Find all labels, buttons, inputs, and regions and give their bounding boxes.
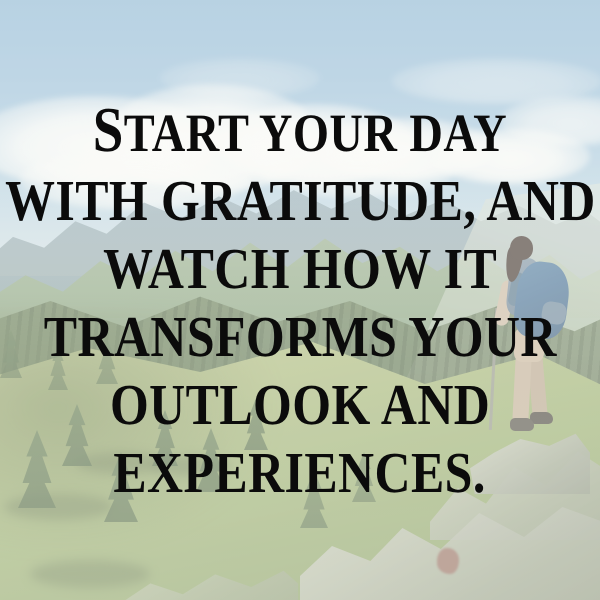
- quote-text-block: START YOUR DAY with gratitude, and watch…: [0, 0, 600, 600]
- quote-line-1: START YOUR DAY: [93, 96, 507, 167]
- quote-line-3: watch how it: [103, 235, 497, 303]
- quote-line-4: transforms your: [43, 303, 556, 371]
- quote-line-1-rest: TART YOUR DAY: [124, 103, 507, 163]
- quote-line-6: experiences.: [114, 439, 486, 507]
- quote-line-5: outlook and: [110, 371, 490, 439]
- quote-poster: START YOUR DAY with gratitude, and watch…: [0, 0, 600, 600]
- quote-drop-cap: S: [93, 94, 124, 165]
- quote-line-2: with gratitude, and: [5, 167, 596, 235]
